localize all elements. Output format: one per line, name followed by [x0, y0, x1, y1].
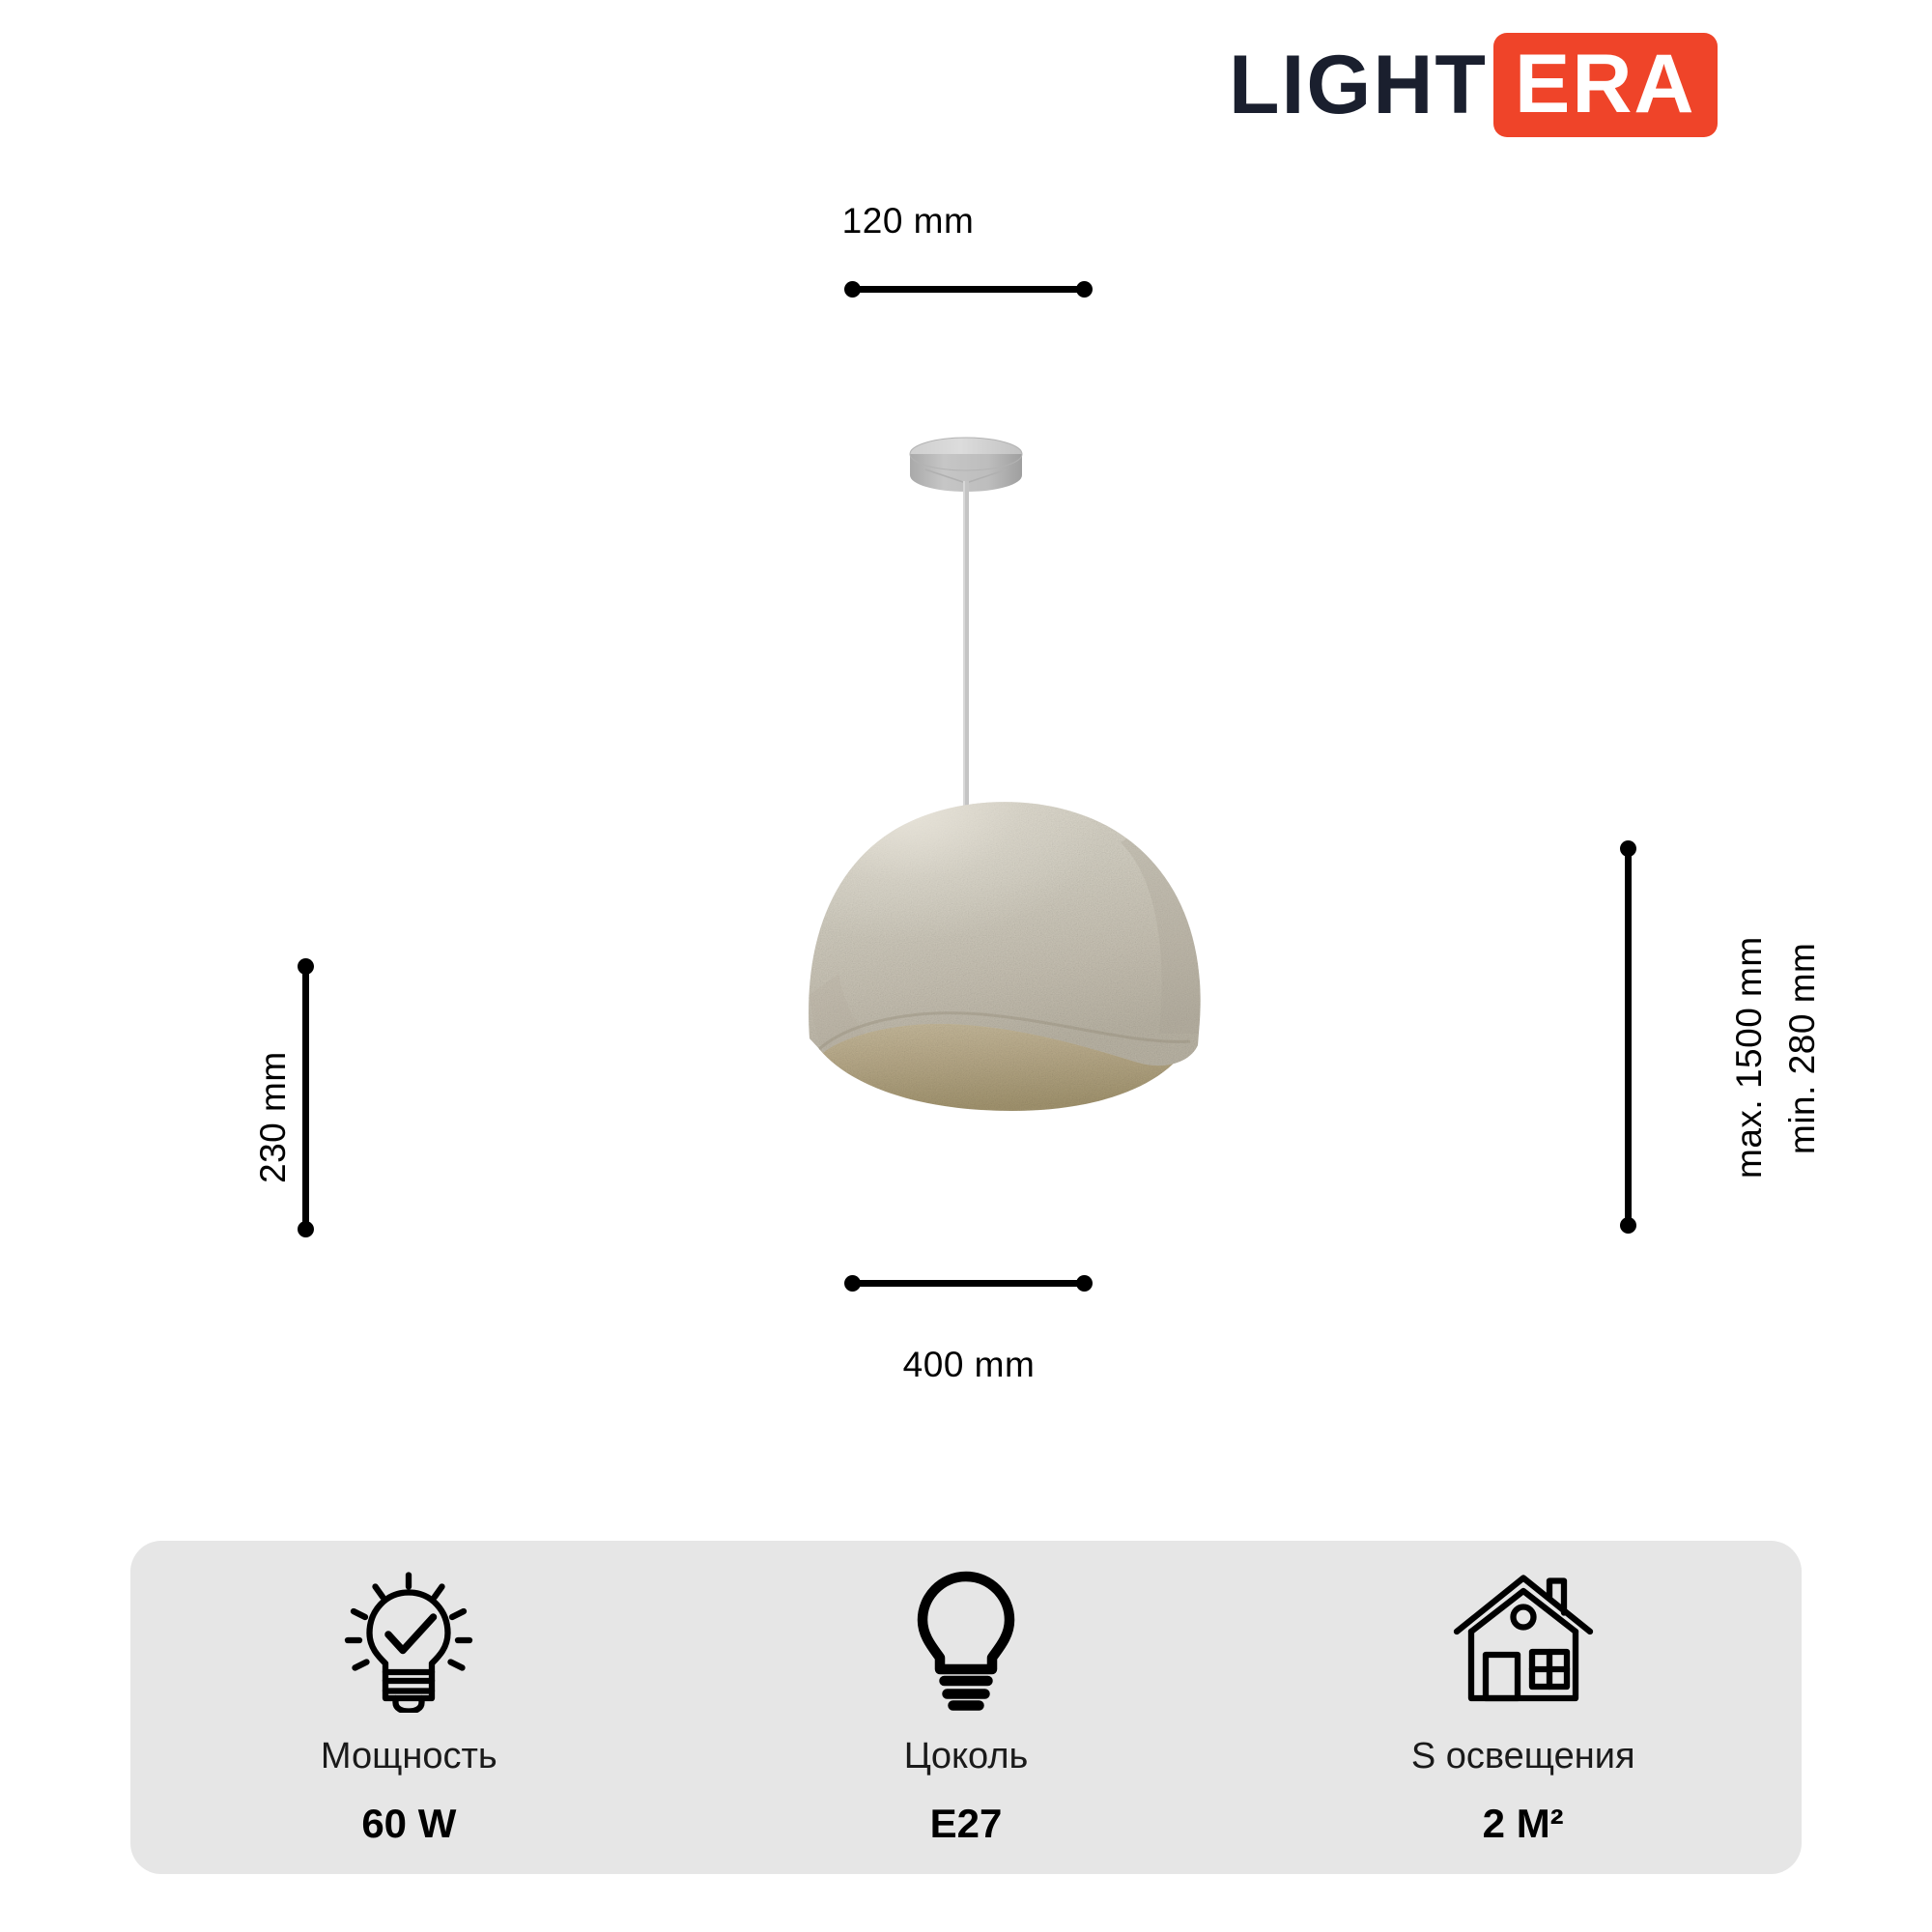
spec-title-socket: Цоколь	[904, 1738, 1029, 1775]
spec-item-area: S освещения 2 M²	[1244, 1541, 1802, 1844]
house-icon	[1451, 1568, 1596, 1713]
dimension-endpoint-dot	[1620, 840, 1636, 857]
spec-value-area: 2 M²	[1483, 1804, 1564, 1844]
dimension-line-bottom-width	[852, 1280, 1084, 1287]
dimension-label-drop-min: min. 280 mm	[1782, 943, 1823, 1154]
dimension-label-bottom-width: 400 mm	[903, 1345, 1036, 1385]
ceiling-canopy	[910, 438, 1022, 492]
spec-item-power: Мощность 60 W	[130, 1541, 688, 1844]
spec-title-power: Мощность	[321, 1738, 497, 1775]
specifications-panel: Мощность 60 W Цоколь E27	[130, 1541, 1802, 1874]
dimension-endpoint-dot	[298, 958, 314, 975]
dimension-label-top-width: 120 mm	[842, 201, 975, 241]
lamp-shade	[782, 763, 1204, 1111]
dimension-label-drop-max: max. 1500 mm	[1729, 936, 1770, 1179]
dimension-line-drop	[1625, 848, 1632, 1225]
dimension-endpoint-dot	[844, 1275, 861, 1292]
logo-text-era: ERA	[1515, 43, 1696, 126]
dimension-line-shade-height	[302, 966, 309, 1229]
suspension-cord	[963, 481, 969, 829]
dimension-line-top-width	[852, 286, 1084, 293]
spec-value-power: 60 W	[361, 1804, 456, 1844]
bulb-socket-icon	[894, 1568, 1038, 1713]
spec-title-area: S освещения	[1411, 1738, 1635, 1775]
dimension-endpoint-dot	[1620, 1217, 1636, 1234]
dimension-endpoint-dot	[1076, 281, 1093, 298]
dimension-endpoint-dot	[1076, 1275, 1093, 1292]
dimension-endpoint-dot	[298, 1221, 314, 1237]
dimension-label-shade-height: 230 mm	[253, 1051, 294, 1183]
logo-era-badge: ERA	[1493, 33, 1718, 137]
dimension-endpoint-dot	[844, 281, 861, 298]
bulb-check-icon	[336, 1568, 481, 1713]
brand-logo: LIGHT ERA	[1229, 35, 1718, 135]
spec-value-socket: E27	[930, 1804, 1003, 1844]
logo-text-light: LIGHT	[1229, 43, 1488, 127]
spec-item-socket: Цоколь E27	[688, 1541, 1245, 1844]
